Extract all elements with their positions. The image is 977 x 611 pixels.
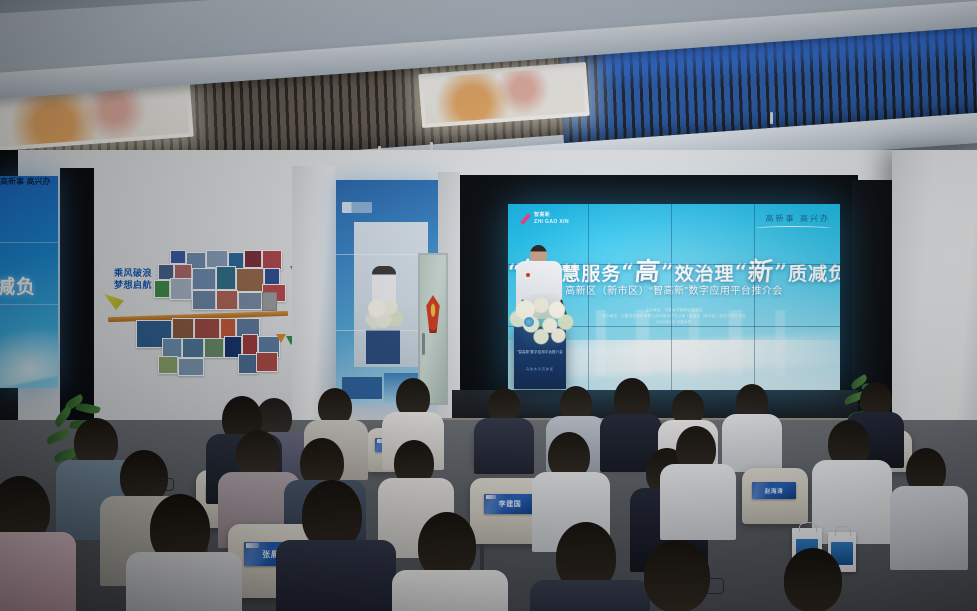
wall-photo [192, 290, 216, 310]
led-wall-ground-glow [508, 340, 840, 390]
audience-torso [722, 414, 782, 472]
left-display-headline: 减负 [0, 272, 36, 299]
audience-torso [474, 418, 534, 474]
wall-photo [170, 250, 186, 264]
wall-photo [192, 268, 216, 290]
placard-sheen [244, 542, 273, 566]
wall-photo [238, 354, 258, 374]
brand-logo-line1: 智高新 [534, 212, 569, 218]
brand-logo-text: 智高新 ZHI GAO XIN [534, 212, 569, 225]
brand-mark-icon [518, 212, 531, 225]
main-led-video-wall[interactable]: 智高新 ZHI GAO XIN 高新事 高兴办 “智”慧服务“高”效治理“新”质… [508, 204, 840, 390]
wall-photo [162, 338, 182, 358]
wall-photo [236, 268, 264, 292]
led-wall-subtitle: 高新区（新市区）“智高新”数字应用平台推介会 [508, 282, 840, 297]
wall-photo [158, 356, 178, 374]
glasses-icon [702, 578, 724, 594]
brand-logo-line2: ZHI GAO XIN [534, 219, 569, 225]
glasses-icon [158, 478, 174, 491]
red-ornament-icon [425, 295, 441, 333]
wall-photo [262, 250, 282, 270]
audience-torso [0, 532, 76, 611]
audience-torso [890, 486, 968, 570]
wall-socket [262, 292, 277, 311]
led-panel-seam [671, 204, 672, 390]
door-handle[interactable] [422, 333, 425, 355]
led-wall-fineprint-3: 2024年6月·乌鲁木齐 [508, 320, 840, 325]
wall-photo [256, 352, 278, 372]
side-display-logo [342, 202, 372, 213]
wall-photo [154, 280, 170, 298]
led-panel-seam [754, 204, 755, 390]
wall-pillar-mid [292, 166, 336, 426]
bag-handle [835, 526, 852, 536]
bag-handle [799, 522, 817, 532]
conference-room-photo: 高新事 高兴办 减负 乘风破浪 梦想启航 [0, 0, 977, 611]
audience-head [644, 540, 710, 611]
led-wall-brand-logo: 智高新 ZHI GAO XIN [518, 212, 569, 225]
audience-torso [392, 570, 508, 611]
wall-photo [216, 290, 238, 310]
chair[interactable]: 赵海涛 [742, 468, 808, 524]
left-display-seam [0, 242, 58, 243]
wall-photo [204, 338, 224, 358]
left-display-calligraphy: 高新事 高兴办 [0, 176, 58, 187]
led-wall-calligraphy: 高新事 高兴办 [765, 213, 830, 224]
led-panel-seam [508, 326, 840, 327]
audience-head [784, 548, 842, 611]
calligraphy-underline [754, 226, 832, 231]
plant-leaf [75, 401, 101, 416]
wall-photo [170, 278, 192, 300]
wall-photo [244, 250, 262, 268]
wall-photo [178, 358, 204, 376]
led-panel-seam [588, 204, 589, 390]
left-display-seam [0, 304, 58, 305]
left-display-light-swirl [0, 309, 58, 388]
left-wall-display[interactable]: 高新事 高兴办 减负 [0, 176, 58, 388]
decorative-ribbon [104, 294, 124, 310]
side-display-flowers [364, 296, 406, 332]
audience-torso [660, 464, 736, 540]
placard-sheen [484, 494, 508, 514]
photo-wall-collage: 乘风破浪 梦想启航 [100, 248, 310, 393]
seat-placard: 赵海涛 [752, 482, 796, 499]
side-display-podium [366, 330, 400, 364]
ceiling-sprinkler [770, 112, 773, 124]
placard-sheen [752, 482, 772, 499]
wall-photo [182, 338, 204, 358]
wall-photo [216, 266, 236, 290]
audience-torso [126, 552, 242, 611]
audience-torso [276, 540, 396, 611]
bunting-flag [276, 334, 286, 343]
plant-leaf [45, 428, 71, 445]
led-panel-seam [508, 264, 840, 265]
led-wall-fineprint-2: 承办单位：中国电信股份有限公司乌鲁木齐分公司 | 高新区（新市区）科技中青年协会 [508, 314, 840, 319]
seat-placard: 李建国 [484, 494, 536, 514]
led-wall-fineprint-1: 主办单位：乌鲁木齐高新区管委会 [508, 308, 840, 313]
wall-photo [238, 292, 262, 310]
light-panel-artwork [423, 66, 586, 124]
audience-torso [530, 580, 650, 611]
